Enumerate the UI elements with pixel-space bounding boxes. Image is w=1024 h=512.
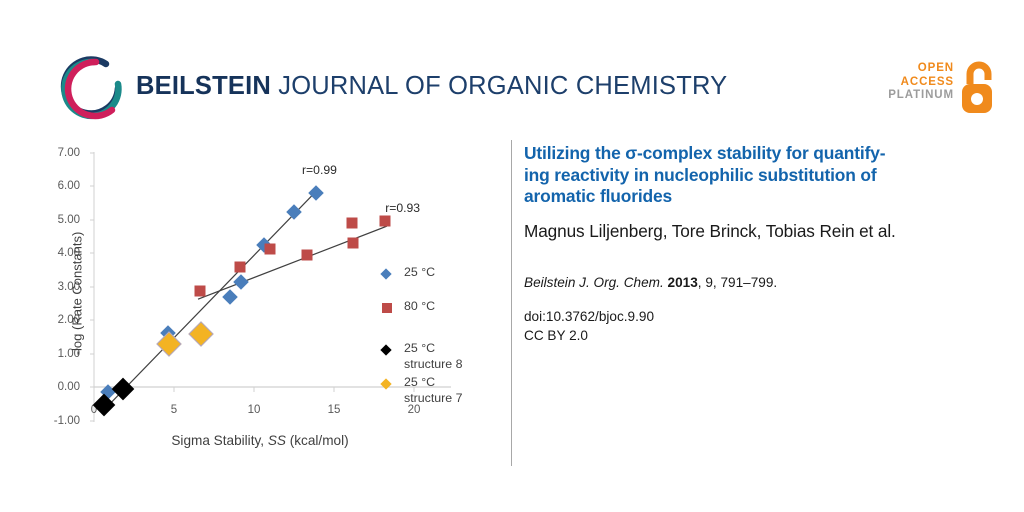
journal-title-light: JOURNAL OF ORGANIC CHEMISTRY bbox=[271, 72, 727, 100]
open-padlock-icon bbox=[958, 60, 1000, 116]
x-tick-label: 20 bbox=[399, 404, 429, 416]
x-axis-title-italic: SS bbox=[268, 433, 286, 448]
open-access-badge: OPEN ACCESS PLATINUM bbox=[884, 60, 999, 118]
legend-sublabel-structure7: structure 7 bbox=[404, 391, 463, 405]
annotation-r-0-93: r=0.93 bbox=[385, 201, 420, 215]
article-info-panel: Utilizing the σ-complex stability for qu… bbox=[524, 143, 994, 345]
trendline-0 bbox=[107, 193, 315, 407]
article-doi: doi:10.3762/bjoc.9.90 bbox=[524, 307, 994, 326]
x-axis-title-tail: (kcal/mol) bbox=[286, 433, 349, 448]
journal-title: BEILSTEIN JOURNAL OF ORGANIC CHEMISTRY bbox=[136, 72, 727, 101]
article-title-line-1: Utilizing the σ-complex stability for qu… bbox=[524, 143, 885, 163]
article-title: Utilizing the σ-complex stability for qu… bbox=[524, 143, 994, 208]
y-tick-label: -1.00 bbox=[40, 415, 80, 427]
beilstein-triple-arc-logo bbox=[56, 54, 128, 126]
y-tick-marks bbox=[90, 153, 94, 421]
article-citation: Beilstein J. Org. Chem. 2013, 9, 791–799… bbox=[524, 275, 994, 290]
data-point-1-5 bbox=[348, 237, 359, 248]
data-point-1-1 bbox=[234, 262, 245, 273]
legend-label-80c: 80 °C bbox=[404, 299, 435, 313]
vertical-divider bbox=[511, 140, 512, 466]
x-axis-title: Sigma Stability, SS (kcal/mol) bbox=[95, 433, 425, 448]
scatter-chart: 7.00 6.00 5.00 4.00 3.00 2.00 1.00 0.00 … bbox=[40, 138, 510, 468]
open-access-line-open: OPEN bbox=[884, 62, 954, 76]
article-license: CC BY 2.0 bbox=[524, 326, 994, 345]
article-title-line-3: aromatic fluorides bbox=[524, 186, 672, 206]
legend-label-25c-structure8: 25 °C bbox=[404, 341, 435, 355]
x-tick-marks bbox=[94, 387, 414, 392]
data-point-1-4 bbox=[346, 217, 357, 228]
open-access-line-access: ACCESS bbox=[884, 76, 954, 90]
y-tick-label: 6.00 bbox=[40, 180, 80, 192]
open-access-labels: OPEN ACCESS PLATINUM bbox=[884, 62, 954, 103]
open-access-line-platinum: PLATINUM bbox=[884, 89, 954, 103]
x-tick-label: 10 bbox=[239, 404, 269, 416]
citation-year: 2013 bbox=[668, 275, 698, 290]
x-tick-label: 5 bbox=[159, 404, 189, 416]
y-axis-title: -log (Rate Constants) bbox=[70, 219, 85, 369]
data-point-1-6 bbox=[380, 215, 391, 226]
data-point-1-2 bbox=[265, 243, 276, 254]
y-tick-label: 7.00 bbox=[40, 147, 80, 159]
data-point-1-3 bbox=[301, 250, 312, 261]
x-axis-title-plain: Sigma Stability, bbox=[171, 433, 267, 448]
legend-label-25c: 25 °C bbox=[404, 265, 435, 279]
article-authors: Magnus Liljenberg, Tore Brinck, Tobias R… bbox=[524, 221, 994, 242]
legend-label-25c-structure7: 25 °C bbox=[404, 375, 435, 389]
y-tick-label: 0.00 bbox=[40, 381, 80, 393]
page-header: BEILSTEIN JOURNAL OF ORGANIC CHEMISTRY O… bbox=[0, 0, 1024, 135]
annotation-r-0-99: r=0.99 bbox=[302, 163, 337, 177]
data-point-1-0 bbox=[194, 286, 205, 297]
journal-title-bold: BEILSTEIN bbox=[136, 72, 271, 100]
x-tick-label: 15 bbox=[319, 404, 349, 416]
legend-square-red-icon bbox=[382, 303, 392, 313]
legend-sublabel-structure8: structure 8 bbox=[404, 357, 463, 371]
article-title-line-2: ing reactivity in nucleophilic substitut… bbox=[524, 165, 877, 185]
citation-journal: Beilstein J. Org. Chem. bbox=[524, 275, 664, 290]
trendlines bbox=[107, 193, 387, 407]
citation-rest: , 9, 791–799. bbox=[698, 275, 777, 290]
